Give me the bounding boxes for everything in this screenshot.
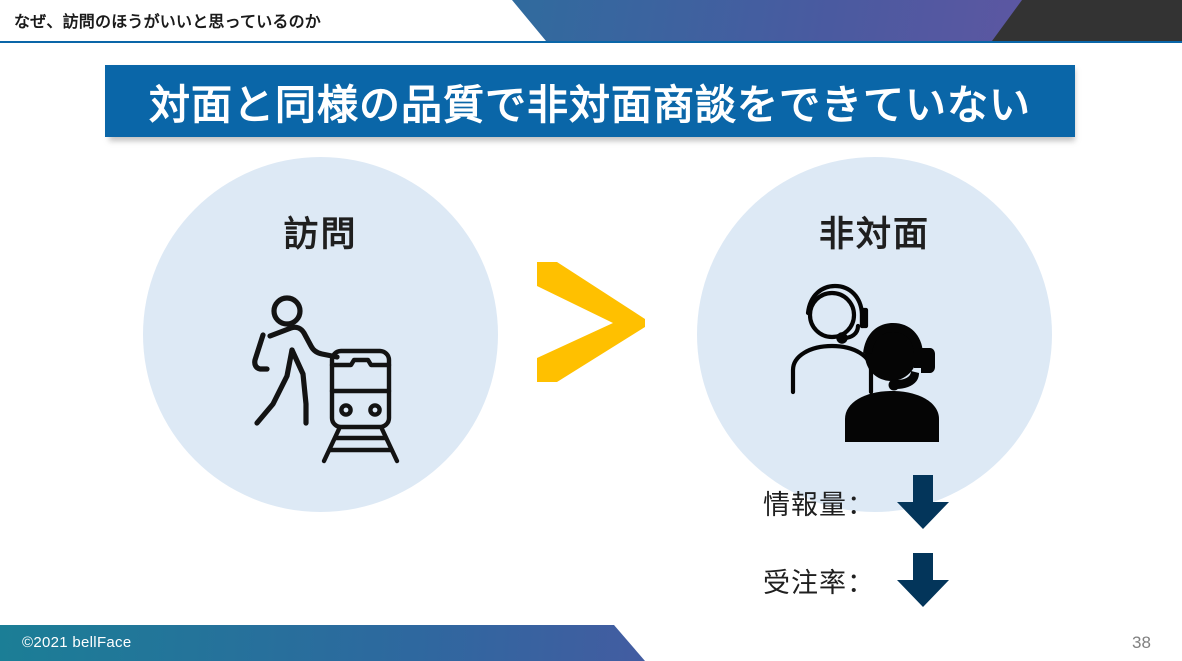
chevron-right-icon: [537, 262, 645, 382]
metric-row-information-volume: 情報量：: [763, 475, 949, 529]
footer-copyright: ©2021 bellFace: [22, 634, 132, 651]
visit-icons-group: [243, 292, 418, 472]
metric-label: 受注率：: [763, 561, 875, 600]
header-divider-line: [0, 41, 1182, 43]
metric-row-order-rate: 受注率：: [763, 553, 949, 607]
comparison-label-left: 訪問: [143, 206, 498, 257]
train-icon: [324, 351, 397, 461]
metric-label: 情報量：: [763, 483, 875, 522]
arrow-down-icon: [897, 475, 949, 529]
arrow-down-icon: [897, 553, 949, 607]
title-banner-text: 対面と同様の品質で非対面商談をできていない: [149, 71, 1031, 131]
footer-gradient-shape: [0, 625, 1182, 661]
headset-person-outline-icon: [793, 286, 871, 392]
title-banner: 対面と同様の品質で非対面商談をできていない: [105, 65, 1075, 137]
page-number: 38: [1132, 633, 1151, 653]
remote-icons-group: [788, 282, 963, 447]
slide-footer: ©2021 bellFace: [0, 625, 1182, 661]
comparison-label-right: 非対面: [697, 206, 1052, 257]
walking-person-icon: [255, 298, 337, 423]
slide-header: なぜ、訪問のほうがいいと思っているのか: [0, 0, 1182, 42]
header-title: なぜ、訪問のほうがいいと思っているのか: [14, 8, 321, 32]
headset-person-filled-icon: [845, 323, 939, 442]
